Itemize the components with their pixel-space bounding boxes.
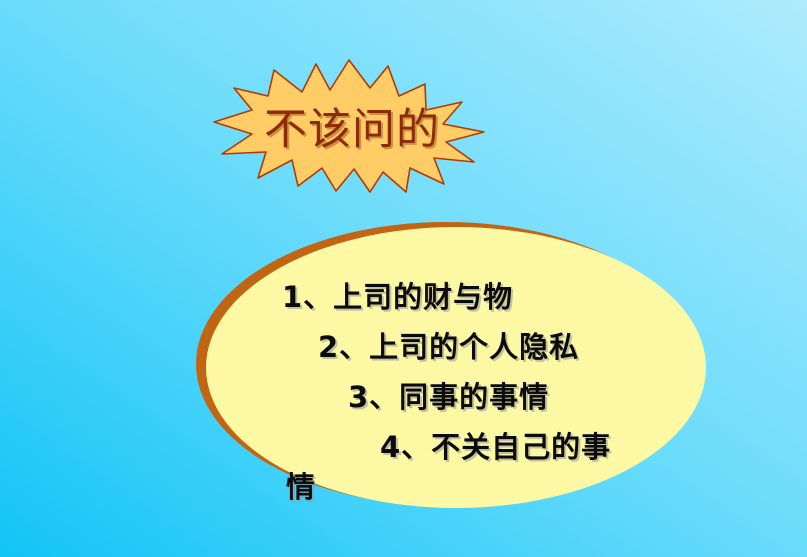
- title-star-banner: 不该问的: [212, 58, 486, 194]
- content-line-3: 3、同事的事情: [282, 372, 632, 422]
- content-line-4: 4、不关自己的事: [282, 422, 632, 472]
- content-overflow-character: 情: [286, 464, 316, 506]
- content-text-block: 1、上司的财与物 2、上司的个人隐私 3、同事的事情 4、不关自己的事: [282, 272, 632, 472]
- title-text: 不该问的: [212, 58, 486, 194]
- content-line-1: 1、上司的财与物: [282, 272, 632, 322]
- slide-canvas: 不该问的 1、上司的财与物 2、上司的个人隐私 3、同事的事情 4、不关自己的事…: [0, 0, 807, 557]
- content-line-2: 2、上司的个人隐私: [282, 322, 632, 372]
